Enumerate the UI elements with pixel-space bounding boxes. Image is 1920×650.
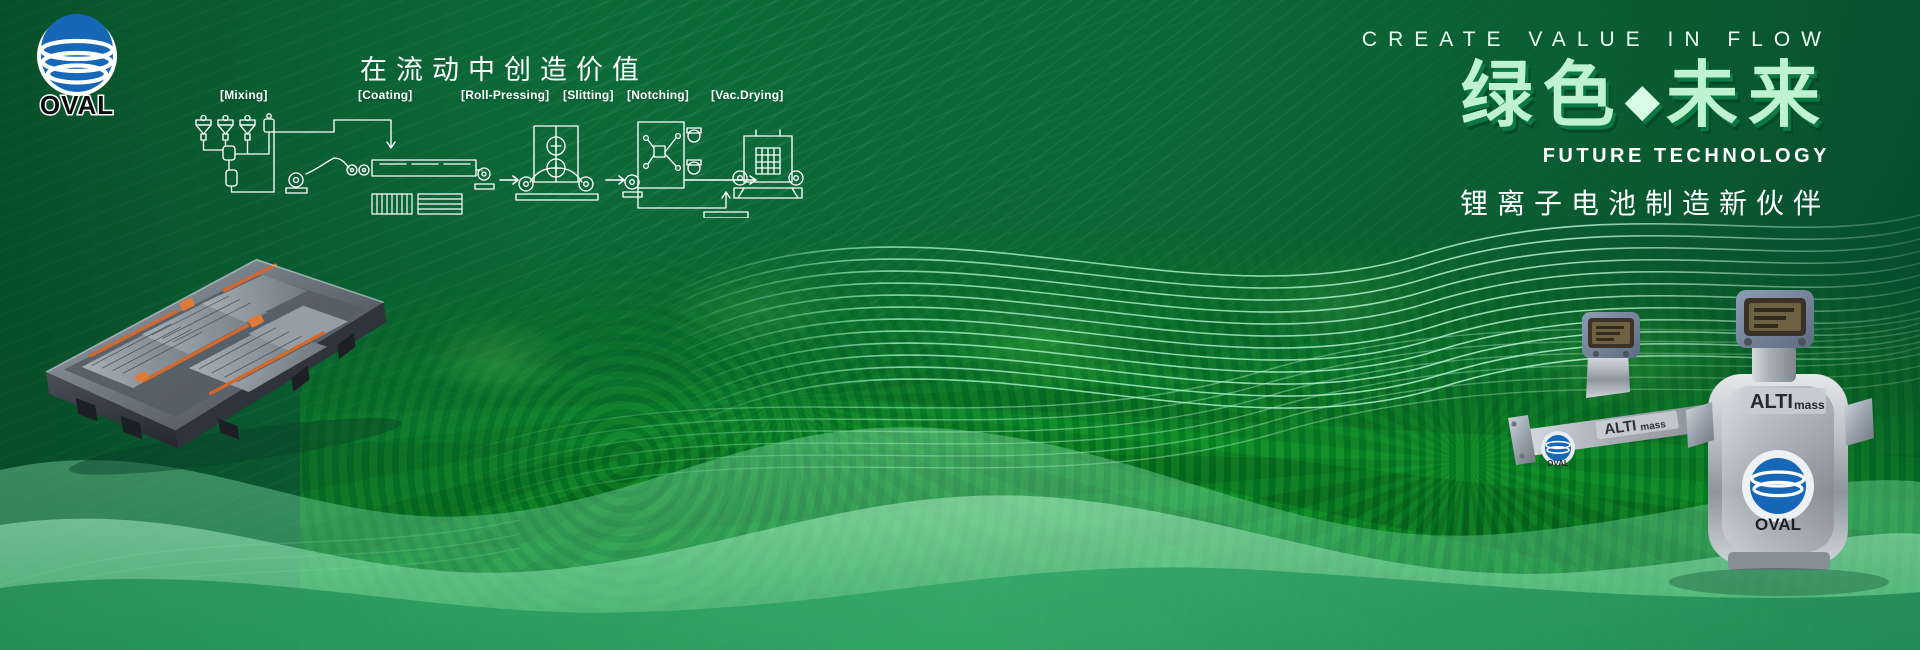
headline-title-right: 未来 bbox=[1666, 53, 1830, 137]
headline-kicker: CREATE VALUE IN FLOW bbox=[960, 28, 1840, 52]
headline-subtitle-en: FUTURE TECHNOLOGY bbox=[960, 145, 1840, 168]
oval-wordmark: OVAL bbox=[18, 90, 136, 121]
flow-meter-products: ALTI mass bbox=[1500, 290, 1920, 650]
process-label-slitting: [Slitting] bbox=[563, 88, 614, 102]
ev-battery-pack-photo bbox=[25, 228, 411, 491]
tagline-chinese: 在流动中创造价值 bbox=[360, 48, 648, 87]
process-label-roll-pressing: [Roll-Pressing] bbox=[461, 88, 549, 102]
headline-title-separator: ◆ bbox=[1625, 73, 1666, 127]
compact-meter-model-sub: mass bbox=[1794, 398, 1825, 412]
process-label-mixing: [Mixing] bbox=[220, 88, 268, 102]
slitting-machine-icon bbox=[623, 122, 701, 208]
roll-press-icon bbox=[516, 126, 598, 200]
process-arrow-2 bbox=[606, 176, 624, 184]
oval-logo[interactable]: OVAL bbox=[18, 12, 136, 124]
mixing-tanks-icon bbox=[196, 114, 274, 192]
compact-meter-brand-text: OVAL bbox=[1755, 515, 1801, 534]
process-icons-group bbox=[186, 108, 806, 218]
process-arrow-1 bbox=[500, 176, 518, 184]
process-label-notching: [Notching] bbox=[627, 88, 689, 102]
marketing-banner: OVAL 在流动中创造价值 [Mixing] [Coating] [Roll-P… bbox=[0, 0, 1920, 650]
headline-subtitle-cn: 锂离子电池制造新伙伴 bbox=[960, 182, 1840, 222]
battery-process-diagram: [Mixing] [Coating] [Roll-Pressing] [Slit… bbox=[186, 88, 806, 208]
headline-block: CREATE VALUE IN FLOW 绿色◆未来 FUTURE TECHNO… bbox=[960, 28, 1840, 222]
headline-title-cn: 绿色◆未来 bbox=[960, 58, 1840, 133]
coating-line-icon bbox=[286, 120, 494, 214]
inline-meter-brand-text: OVAL bbox=[1547, 459, 1569, 468]
process-label-coating: [Coating] bbox=[358, 88, 412, 102]
compact-meter-model-text: ALTI bbox=[1750, 391, 1793, 413]
process-label-vac-drying: [Vac.Drying] bbox=[711, 88, 783, 102]
vacuum-dryer-icon bbox=[733, 130, 803, 198]
coriolis-flow-meter-compact: ALTI mass OVAL bbox=[1669, 290, 1889, 596]
headline-title-left: 绿色 bbox=[1461, 53, 1625, 137]
